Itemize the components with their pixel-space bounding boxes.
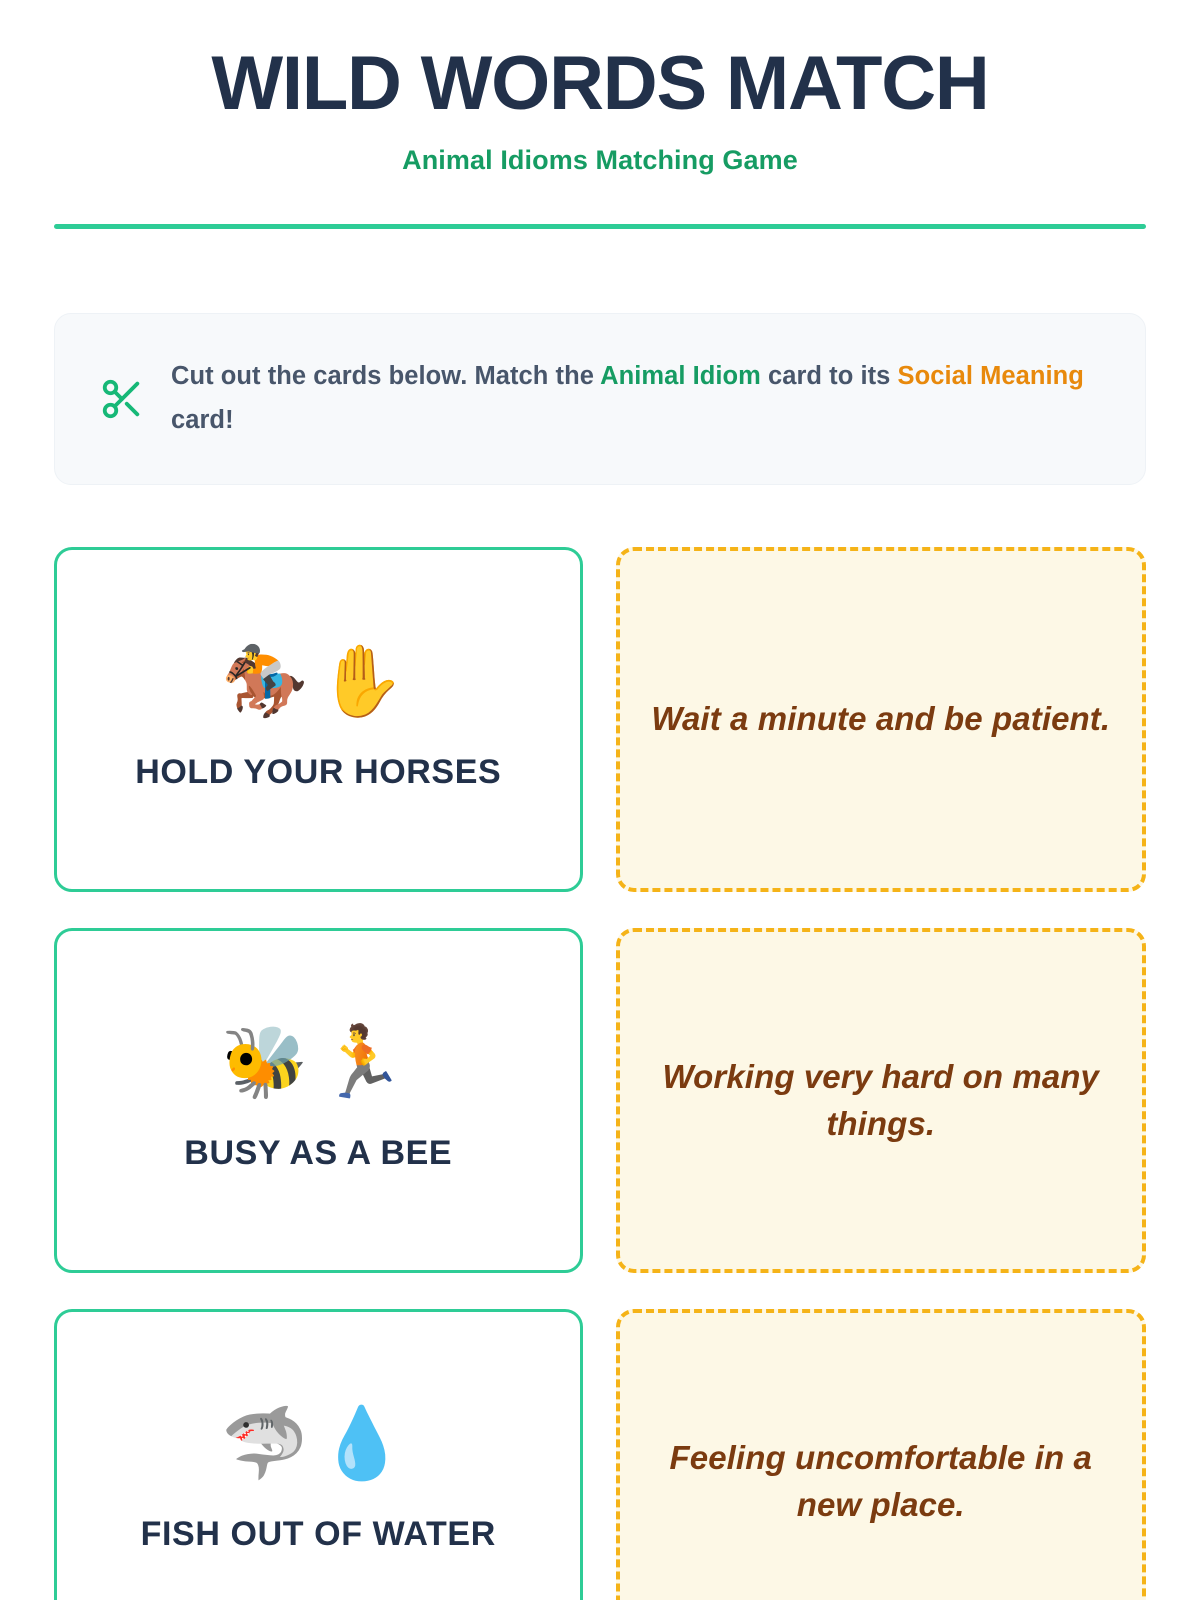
scissors-icon — [99, 376, 145, 422]
idiom-card-emojis: 🏇✋ — [221, 646, 415, 716]
idiom-card-label: BUSY AS A BEE — [184, 1133, 452, 1173]
meaning-card[interactable]: Wait a minute and be patient. — [616, 547, 1147, 892]
instruction-highlight-animal-idiom: Animal Idiom — [600, 362, 761, 390]
card-row: 🏇✋ HOLD YOUR HORSES Wait a minute and be… — [54, 547, 1146, 892]
instruction-highlight-social-meaning: Social Meaning — [898, 362, 1084, 390]
meaning-card[interactable]: Working very hard on many things. — [616, 928, 1147, 1273]
meaning-card-text: Wait a minute and be patient. — [651, 696, 1110, 743]
idiom-card[interactable]: 🦈💧 FISH OUT OF WATER — [54, 1309, 583, 1600]
card-row: 🦈💧 FISH OUT OF WATER Feeling uncomfortab… — [54, 1309, 1146, 1600]
instruction-text-part1: Cut out the cards below. Match the — [171, 362, 600, 390]
meaning-card[interactable]: Feeling uncomfortable in a new place. — [616, 1309, 1147, 1600]
instruction-text: Cut out the cards below. Match the Anima… — [171, 355, 1111, 443]
page-title: WILD WORDS MATCH — [54, 44, 1146, 123]
instruction-banner: Cut out the cards below. Match the Anima… — [54, 313, 1146, 485]
meaning-card-text: Working very hard on many things. — [646, 1054, 1117, 1148]
page-header: WILD WORDS MATCH Animal Idioms Matching … — [54, 0, 1146, 176]
worksheet-page: WILD WORDS MATCH Animal Idioms Matching … — [0, 0, 1200, 1600]
idiom-card-emojis: 🐝🏃 — [221, 1027, 415, 1097]
header-divider — [54, 224, 1146, 229]
idiom-card-emojis: 🦈💧 — [221, 1408, 415, 1478]
idiom-card-label: HOLD YOUR HORSES — [135, 752, 501, 792]
idiom-card[interactable]: 🐝🏃 BUSY AS A BEE — [54, 928, 583, 1273]
page-subtitle: Animal Idioms Matching Game — [54, 145, 1146, 176]
instruction-text-part3: card! — [171, 406, 234, 434]
idiom-card[interactable]: 🏇✋ HOLD YOUR HORSES — [54, 547, 583, 892]
card-grid: 🏇✋ HOLD YOUR HORSES Wait a minute and be… — [54, 547, 1146, 1600]
meaning-card-text: Feeling uncomfortable in a new place. — [646, 1435, 1117, 1529]
card-row: 🐝🏃 BUSY AS A BEE Working very hard on ma… — [54, 928, 1146, 1273]
instruction-text-part2: card to its — [761, 362, 898, 390]
idiom-card-label: FISH OUT OF WATER — [141, 1514, 496, 1554]
